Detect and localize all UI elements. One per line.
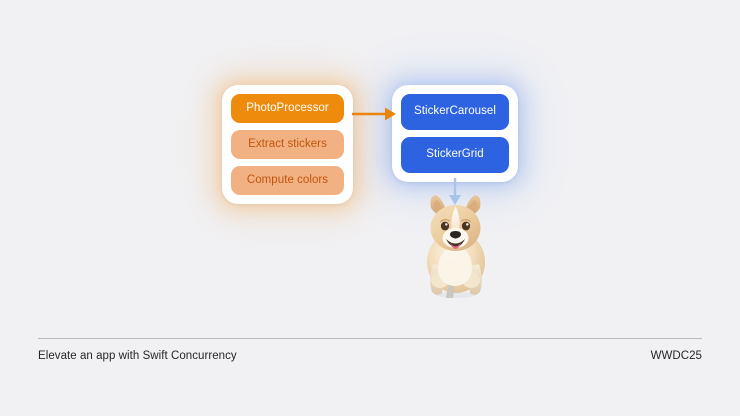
chip-photo-processor[interactable]: PhotoProcessor <box>231 94 344 123</box>
photo-processor-group: PhotoProcessor Extract stickers Compute … <box>222 85 353 204</box>
slide-canvas: PhotoProcessor Extract stickers Compute … <box>0 0 740 416</box>
chip-compute-colors[interactable]: Compute colors <box>231 166 344 195</box>
footer-event-tag: WWDC25 <box>651 350 702 362</box>
chip-sticker-carousel[interactable]: StickerCarousel <box>401 94 509 130</box>
sticker-views-group: StickerCarousel StickerGrid <box>392 85 518 182</box>
architecture-diagram: PhotoProcessor Extract stickers Compute … <box>0 0 740 320</box>
chip-extract-stickers[interactable]: Extract stickers <box>231 130 344 159</box>
slide-footer: Elevate an app with Swift Concurrency WW… <box>0 320 740 416</box>
arrow-right-icon <box>352 100 396 128</box>
footer-divider <box>38 338 702 339</box>
footer-session-title: Elevate an app with Swift Concurrency <box>38 350 237 362</box>
corgi-photo <box>409 192 503 298</box>
chip-sticker-grid[interactable]: StickerGrid <box>401 137 509 173</box>
